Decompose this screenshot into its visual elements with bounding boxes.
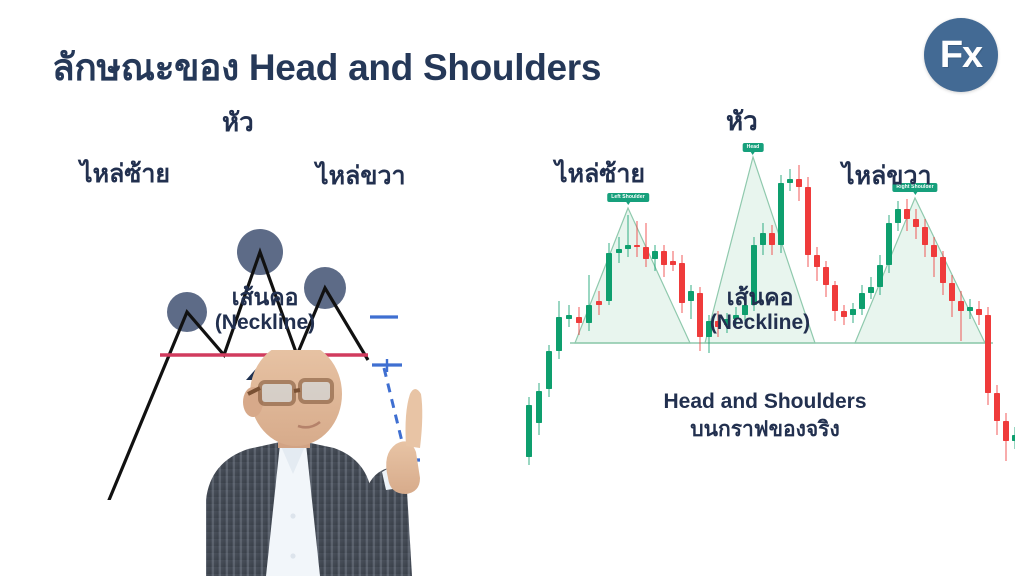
presenter-photo <box>120 350 450 576</box>
candle-body-down <box>976 309 982 315</box>
candle-body-up <box>606 253 612 301</box>
candle-body-down <box>931 245 937 257</box>
infographic-canvas: ลักษณะของ Head and Shoulders Fx <box>0 0 1024 576</box>
chart-label-neckline: เส้นคอ (Neckline) <box>665 285 855 334</box>
candle-body-up <box>886 223 892 265</box>
chart-label-head: หัว <box>726 107 758 136</box>
schematic-label-neckline: เส้นคอ (Neckline) <box>180 285 350 334</box>
candle-body-down <box>949 283 955 301</box>
chart-caption-line2: บนกราฟของจริง <box>630 416 900 444</box>
candle-body-down <box>661 251 667 265</box>
candle-body-down <box>994 393 1000 421</box>
shirt-button <box>290 553 295 558</box>
candle-body-down <box>769 233 775 245</box>
candle-body-up <box>556 317 562 351</box>
candle-body-up <box>895 209 901 223</box>
candle-body-down <box>1003 421 1009 441</box>
schematic-label-head: หัว <box>222 108 254 137</box>
shirt-button <box>290 513 295 518</box>
candle-body-down <box>576 317 582 323</box>
candle-body-down <box>643 247 649 259</box>
chart-caption-line1: Head and Shoulders <box>630 388 900 416</box>
presenter-illustration <box>120 350 450 576</box>
schematic-neckline-th: เส้นคอ <box>232 284 299 310</box>
schematic-label-left-shoulder: ไหล่ซ้าย <box>80 160 170 188</box>
pattern-shading-2 <box>855 198 985 343</box>
candle-body-up <box>625 245 631 249</box>
candle-body-down <box>904 209 910 219</box>
chart-label-right-shoulder: ไหล่ขวา <box>842 162 932 190</box>
candle-body-down <box>814 255 820 267</box>
page-title: ลักษณะของ Head and Shoulders <box>52 38 601 97</box>
hand <box>386 441 420 494</box>
chart-label-left-shoulder: ไหล่ซ้าย <box>555 160 645 188</box>
candle-body-down <box>985 315 991 393</box>
candle-body-up <box>859 293 865 309</box>
candle-body-up <box>616 249 622 253</box>
candle-body-down <box>958 301 964 311</box>
candle-body-up <box>967 307 973 311</box>
candle-body-up <box>536 391 542 423</box>
candle-body-up <box>778 183 784 245</box>
chart-neckline-en: (Neckline) <box>665 311 855 335</box>
schematic-neckline-en: (Neckline) <box>180 311 350 335</box>
candle-body-up <box>787 179 793 183</box>
candle-body-down <box>796 179 802 187</box>
candle-body-down <box>805 187 811 255</box>
candle-body-up <box>586 305 592 323</box>
candle-body-down <box>922 227 928 245</box>
candle-body-up <box>546 351 552 389</box>
badge-left-shoulder: Left Shoulder <box>607 193 649 202</box>
chart-neckline-th: เส้นคอ <box>727 284 794 310</box>
candle-body-down <box>940 257 946 283</box>
candle-body-up <box>760 233 766 245</box>
candle-body-up <box>877 265 883 287</box>
badge-head: Head <box>743 143 764 152</box>
schematic-label-right-shoulder: ไหล่ขวา <box>316 162 406 190</box>
candle-body-up <box>1012 435 1015 441</box>
fx-logo: Fx <box>924 18 998 92</box>
glasses-icon <box>248 380 332 404</box>
candle-body-up <box>566 315 572 319</box>
chart-caption: Head and Shoulders บนกราฟของจริง <box>630 388 900 445</box>
candle-body-up <box>652 251 658 259</box>
candle-body-down <box>823 267 829 285</box>
candle-body-down <box>634 245 640 247</box>
candle-body-down <box>913 219 919 227</box>
candle-body-up <box>868 287 874 293</box>
candle-body-down <box>670 261 676 265</box>
index-finger <box>406 389 423 448</box>
candle-body-up <box>526 405 532 457</box>
fx-logo-text: Fx <box>924 18 998 92</box>
candle-body-down <box>596 301 602 305</box>
